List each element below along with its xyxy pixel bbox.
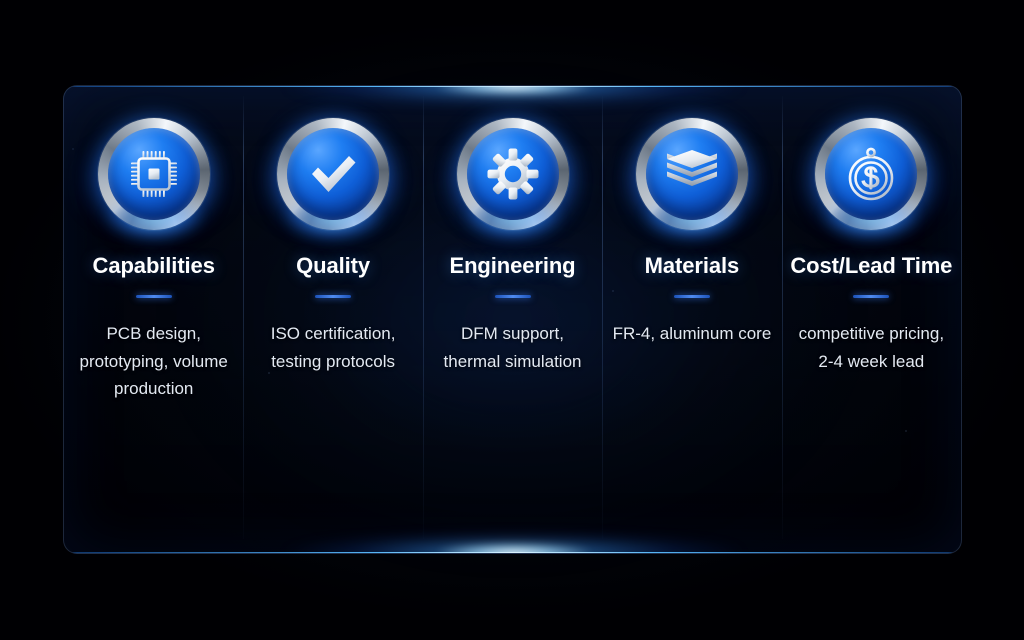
layers-icon (663, 147, 721, 201)
card-description: DFM support, thermal simulation (431, 320, 594, 375)
stopwatch-dollar-icon (841, 144, 901, 204)
medallion-ring (636, 118, 748, 230)
card-description: FR-4, aluminum core (613, 320, 772, 348)
medallion-ring (815, 118, 927, 230)
feature-card-capabilities[interactable]: Capabilities PCB design, prototyping, vo… (64, 86, 243, 553)
card-title: Materials (645, 253, 739, 279)
icon-container (454, 115, 572, 233)
icon-container (633, 115, 751, 233)
feature-card-engineering[interactable]: Engineering DFM support, thermal simulat… (423, 86, 602, 553)
card-description: competitive pricing, 2-4 week lead (790, 320, 953, 375)
feature-card-materials[interactable]: Materials FR-4, aluminum core (602, 86, 781, 553)
microchip-icon (127, 147, 181, 201)
card-description: PCB design, prototyping, volume producti… (72, 320, 235, 403)
card-description: ISO certification, testing protocols (251, 320, 414, 375)
medallion-disc (646, 128, 738, 220)
icon-container (812, 115, 930, 233)
feature-card-row: Capabilities PCB design, prototyping, vo… (64, 86, 961, 553)
title-divider (674, 295, 710, 298)
medallion-disc (467, 128, 559, 220)
medallion-disc (287, 128, 379, 220)
card-title: Engineering (450, 253, 576, 279)
title-divider (136, 295, 172, 298)
title-divider (495, 295, 531, 298)
icon-container (95, 115, 213, 233)
title-divider (853, 295, 889, 298)
feature-card-cost-lead-time[interactable]: Cost/Lead Time competitive pricing, 2-4 … (782, 86, 961, 553)
card-title: Quality (296, 253, 370, 279)
card-title: Cost/Lead Time (790, 253, 952, 279)
gear-icon (485, 146, 541, 202)
medallion-ring (457, 118, 569, 230)
title-divider (315, 295, 351, 298)
card-title: Capabilities (93, 253, 215, 279)
feature-card-quality[interactable]: Quality ISO certification, testing proto… (243, 86, 422, 553)
medallion-ring (98, 118, 210, 230)
medallion-ring (277, 118, 389, 230)
feature-panel: Capabilities PCB design, prototyping, vo… (63, 85, 962, 554)
medallion-disc (825, 128, 917, 220)
checkmark-icon (304, 145, 362, 203)
icon-container (274, 115, 392, 233)
medallion-disc (108, 128, 200, 220)
slide-canvas: Capabilities PCB design, prototyping, vo… (0, 0, 1024, 640)
